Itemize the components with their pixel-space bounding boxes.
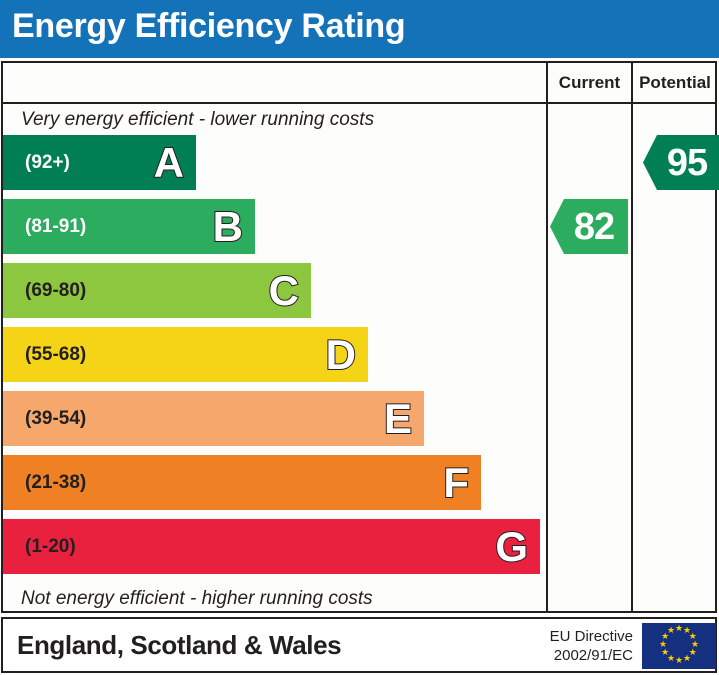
band-range-g: (1-20) bbox=[25, 536, 76, 558]
band-bar-c: (69-80)C bbox=[3, 263, 311, 318]
band-range-a: (92+) bbox=[25, 152, 70, 174]
current-column-divider bbox=[546, 63, 548, 611]
band-bar-f: (21-38)F bbox=[3, 455, 481, 510]
rating-value-current: 82 bbox=[564, 208, 614, 246]
band-range-c: (69-80) bbox=[25, 280, 86, 302]
column-header-potential: Potential bbox=[633, 71, 717, 95]
band-letter-b: B bbox=[213, 206, 243, 248]
rating-value-potential: 95 bbox=[657, 144, 707, 182]
band-letter-e: E bbox=[384, 398, 412, 440]
eu-flag-icon: ★★★★★★★★★★★★ bbox=[642, 623, 716, 669]
page-title: Energy Efficiency Rating bbox=[12, 7, 405, 46]
caption-not-efficient: Not energy efficient - higher running co… bbox=[21, 588, 373, 610]
directive-line-2: 2002/91/EC bbox=[523, 646, 633, 665]
footer-region-label: England, Scotland & Wales bbox=[17, 630, 341, 661]
band-range-b: (81-91) bbox=[25, 216, 86, 238]
band-letter-f: F bbox=[443, 462, 469, 504]
band-letter-c: C bbox=[269, 270, 299, 312]
band-range-e: (39-54) bbox=[25, 408, 86, 430]
caption-very-efficient: Very energy efficient - lower running co… bbox=[21, 109, 374, 131]
header-divider bbox=[3, 102, 715, 104]
band-range-f: (21-38) bbox=[25, 472, 86, 494]
band-bar-e: (39-54)E bbox=[3, 391, 424, 446]
band-bar-b: (81-91)B bbox=[3, 199, 255, 254]
band-letter-a: A bbox=[154, 142, 184, 184]
band-letter-g: G bbox=[495, 526, 528, 568]
chart-footer: England, Scotland & Wales EU Directive 2… bbox=[1, 617, 717, 673]
column-header-current: Current bbox=[548, 71, 631, 95]
chart-title-bar: Energy Efficiency Rating bbox=[0, 0, 719, 58]
band-letter-d: D bbox=[326, 334, 356, 376]
directive-line-1: EU Directive bbox=[523, 627, 633, 646]
band-bar-g: (1-20)G bbox=[3, 519, 540, 574]
energy-efficiency-rating-chart: Energy Efficiency Rating Current Potenti… bbox=[0, 0, 719, 675]
rating-table: Current Potential Very energy efficient … bbox=[1, 61, 717, 613]
footer-directive: EU Directive 2002/91/EC bbox=[523, 627, 633, 665]
potential-column-divider bbox=[631, 63, 633, 611]
band-bar-d: (55-68)D bbox=[3, 327, 368, 382]
rating-badge-potential: 95 bbox=[643, 135, 719, 190]
rating-badge-current: 82 bbox=[550, 199, 628, 254]
band-bar-a: (92+)A bbox=[3, 135, 196, 190]
band-range-d: (55-68) bbox=[25, 344, 86, 366]
